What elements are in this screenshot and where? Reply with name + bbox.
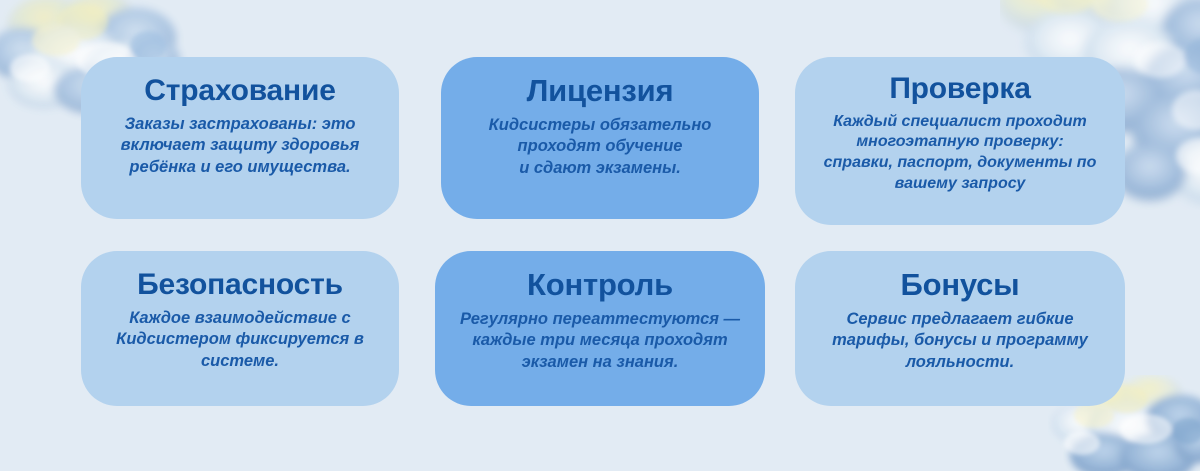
card-body: Каждое взаимодействие с Кидсистером фикс… (116, 308, 364, 374)
feature-card-grid: Страхование Заказы застрахованы: это вкл… (0, 0, 1200, 471)
card-body: Заказы застрахованы: это включает защиту… (121, 114, 360, 180)
card-body: Сервис предлагает гибкие тарифы, бонусы … (832, 309, 1088, 375)
card-body: Кидсистеры обязательно проходят обучение… (489, 115, 712, 181)
card-title: Контроль (527, 269, 673, 302)
infographic-canvas: Страхование Заказы застрахованы: это вкл… (0, 0, 1200, 471)
feature-card-bezopasnost[interactable]: Безопасность Каждое взаимодействие с Кид… (81, 251, 399, 406)
card-title: Страхование (144, 75, 335, 107)
feature-card-kontrol[interactable]: Контроль Регулярно переаттестуются — каж… (435, 251, 765, 406)
feature-card-bonusy[interactable]: Бонусы Сервис предлагает гибкие тарифы, … (795, 251, 1125, 406)
feature-card-strahovanie[interactable]: Страхование Заказы застрахованы: это вкл… (81, 57, 399, 219)
card-title: Бонусы (901, 269, 1020, 302)
card-title: Безопасность (137, 269, 343, 301)
card-body: Каждый специалист проходит многоэтапную … (824, 112, 1097, 195)
card-title: Лицензия (527, 75, 674, 108)
card-body: Регулярно переаттестуются — каждые три м… (460, 309, 740, 375)
card-title: Проверка (889, 73, 1030, 105)
feature-card-proverka[interactable]: Проверка Каждый специалист проходит мног… (795, 57, 1125, 225)
feature-card-licenziya[interactable]: Лицензия Кидсистеры обязательно проходят… (441, 57, 759, 219)
